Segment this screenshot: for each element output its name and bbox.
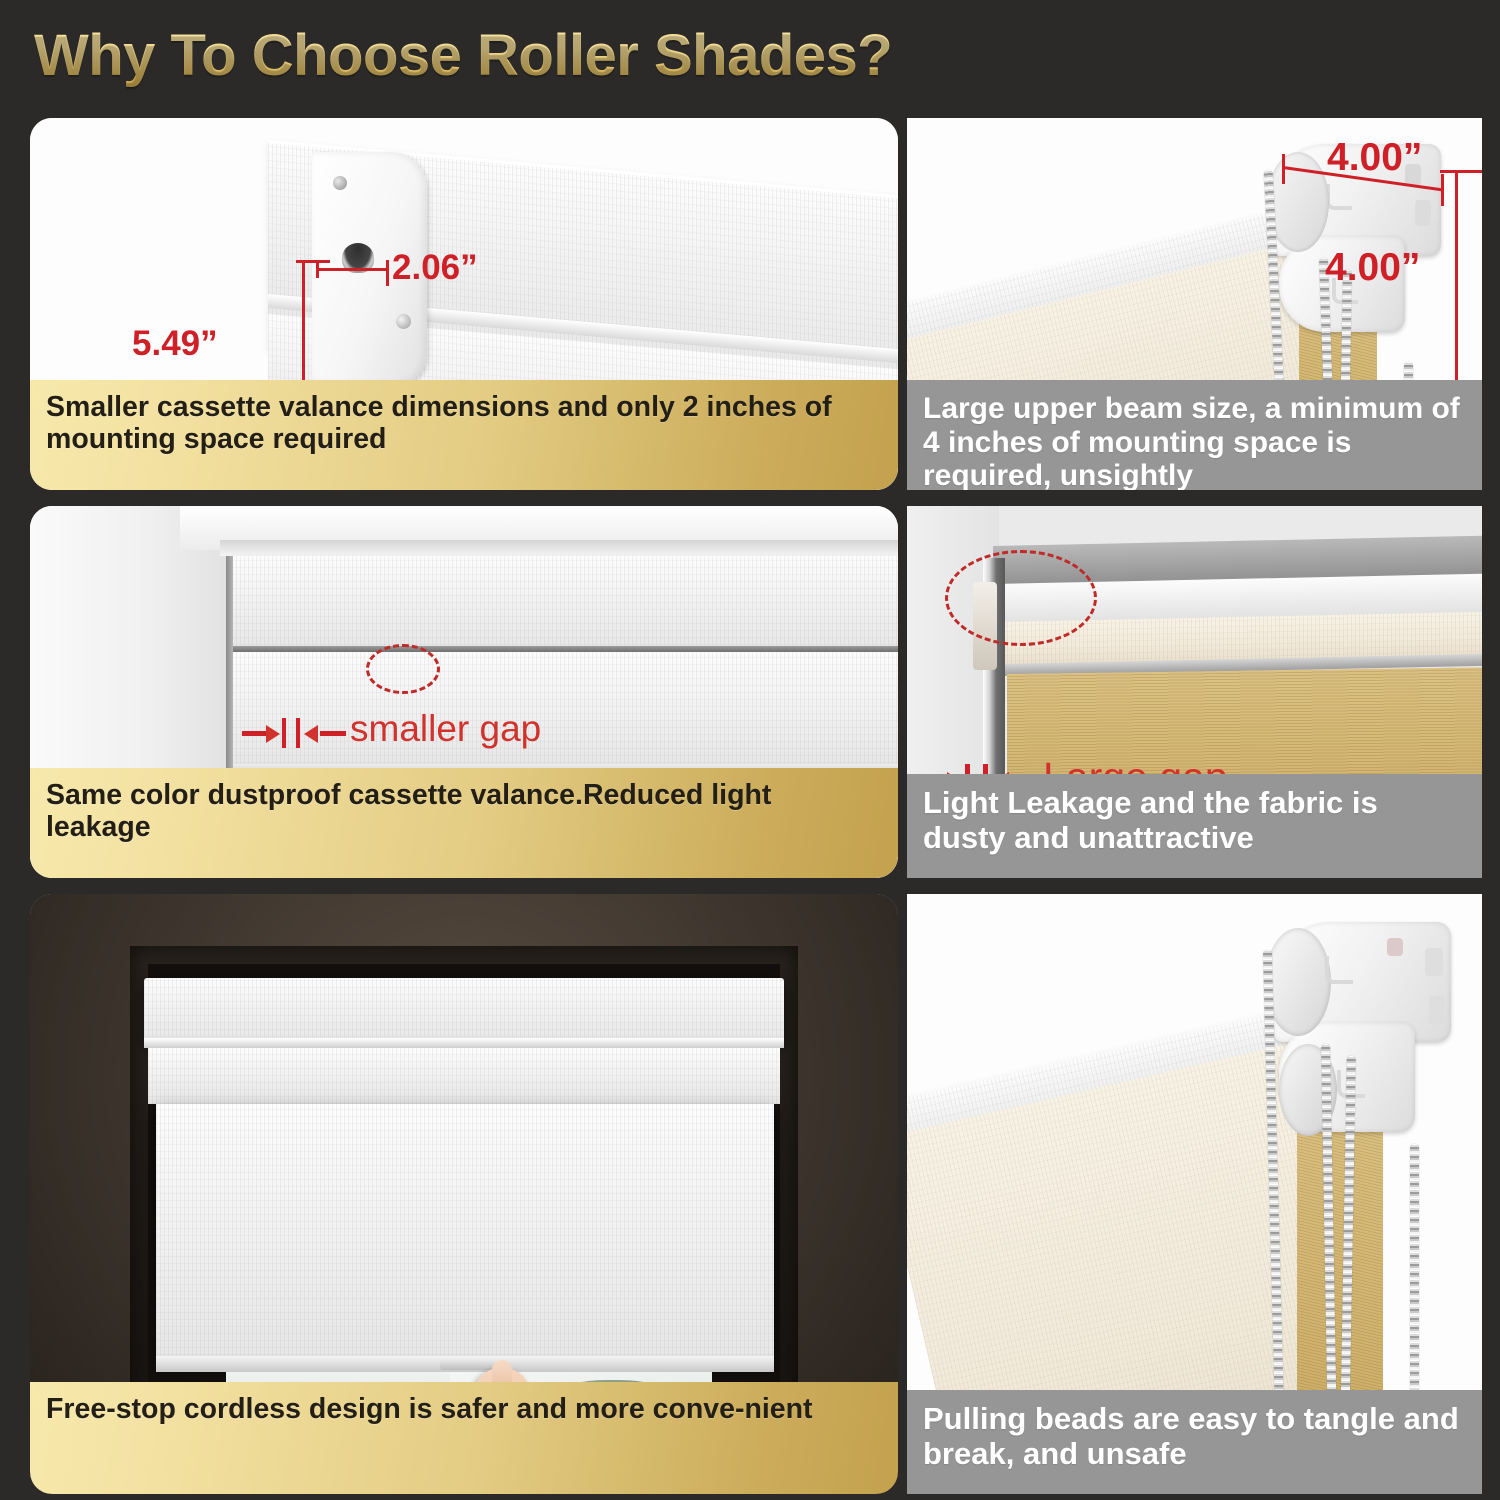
caption-free-stop-cordless-design: Free-stop cordless design is safer and m… bbox=[30, 1382, 898, 1494]
cap-top-screw-icon bbox=[333, 176, 347, 190]
beam-height-tick-top bbox=[1440, 170, 1482, 173]
width-dim-tick-left bbox=[316, 260, 319, 278]
roller-end-disc bbox=[1267, 152, 1329, 252]
panel-pulling-beads-tangle[interactable]: Pulling beads are easy to tangle and bre… bbox=[907, 894, 1482, 1494]
panel-cassette-valance-dimensions[interactable]: 2.06” 5.49” Smaller cassette valance dim… bbox=[30, 118, 898, 490]
beam-width-tick-left bbox=[1282, 154, 1285, 184]
shade-valance bbox=[144, 978, 784, 1044]
comparison-grid: 2.06” 5.49” Smaller cassette valance dim… bbox=[0, 118, 1500, 1500]
bracket-slot-mid-icon bbox=[1415, 200, 1431, 226]
panel-light-leakage-dusty-fabric[interactable]: Large gap Light Leakage and the fabric i… bbox=[907, 506, 1482, 878]
beam-width-tick-right bbox=[1441, 174, 1444, 206]
width-dimension-label: 2.06” bbox=[392, 248, 478, 288]
smaller-gap-label: smaller gap bbox=[350, 708, 541, 750]
width-dim-tick-right bbox=[386, 260, 389, 286]
panel-large-upper-beam[interactable]: 4.00” 4.00” Large upper beam size, a min… bbox=[907, 118, 1482, 490]
gap-tick-b bbox=[296, 718, 300, 748]
gap-arrow-right-head bbox=[304, 725, 318, 743]
width-dim-line bbox=[316, 268, 388, 271]
beam-height-label: 4.00” bbox=[1325, 246, 1420, 290]
gap-arrow-right-shaft bbox=[320, 731, 346, 736]
window-frame-inner-edge bbox=[220, 540, 898, 556]
height-dim-tick-top bbox=[296, 260, 330, 263]
gap-tick-a bbox=[282, 718, 286, 748]
caption-light-leakage-dusty-fabric: Light Leakage and the fabric is dusty an… bbox=[907, 774, 1482, 878]
beam-height-dim-line bbox=[1455, 170, 1458, 386]
height-dimension-label: 5.49” bbox=[132, 324, 218, 364]
caption-cassette-valance-dimensions: Smaller cassette valance dimensions and … bbox=[30, 380, 898, 490]
caption-dustproof-cassette-valance: Same color dustproof cassette valance.Re… bbox=[30, 768, 898, 878]
valance-lower-band bbox=[148, 1048, 780, 1104]
shade-fabric-main bbox=[156, 1104, 774, 1362]
cap-screw-icon bbox=[396, 314, 411, 329]
gap-arrow-left-shaft bbox=[242, 731, 268, 736]
beam-width-label: 4.00” bbox=[1327, 136, 1422, 180]
valance-seam-highlight-ellipse bbox=[366, 644, 440, 694]
gap-arrow-left-head bbox=[266, 725, 280, 743]
page-title: Why To Choose Roller Shades? bbox=[34, 22, 892, 89]
bracket-slot-upper-icon bbox=[1387, 938, 1403, 956]
shade-pull-tab bbox=[440, 1360, 496, 1370]
bracket-slot-right-icon bbox=[1425, 948, 1443, 976]
shade-fabric bbox=[232, 652, 898, 770]
panel-free-stop-cordless-design[interactable]: Free-stop cordless design is safer and m… bbox=[30, 894, 898, 1494]
gap-highlight-ellipse bbox=[945, 550, 1097, 646]
bracket-hook-upper-icon bbox=[1325, 956, 1353, 984]
bracket-slot-mid-icon bbox=[1429, 996, 1445, 1024]
valance-lip bbox=[144, 1038, 784, 1048]
caption-large-upper-beam: Large upper beam size, a minimum of 4 in… bbox=[907, 380, 1482, 490]
caption-pulling-beads-tangle: Pulling beads are easy to tangle and bre… bbox=[907, 1390, 1482, 1494]
panel-dustproof-cassette-valance[interactable]: smaller gap Same color dustproof cassett… bbox=[30, 506, 898, 878]
cassette-valance bbox=[232, 556, 898, 652]
bracket-hook-icon bbox=[1326, 184, 1352, 210]
roller-end-disc-upper bbox=[1265, 928, 1331, 1036]
